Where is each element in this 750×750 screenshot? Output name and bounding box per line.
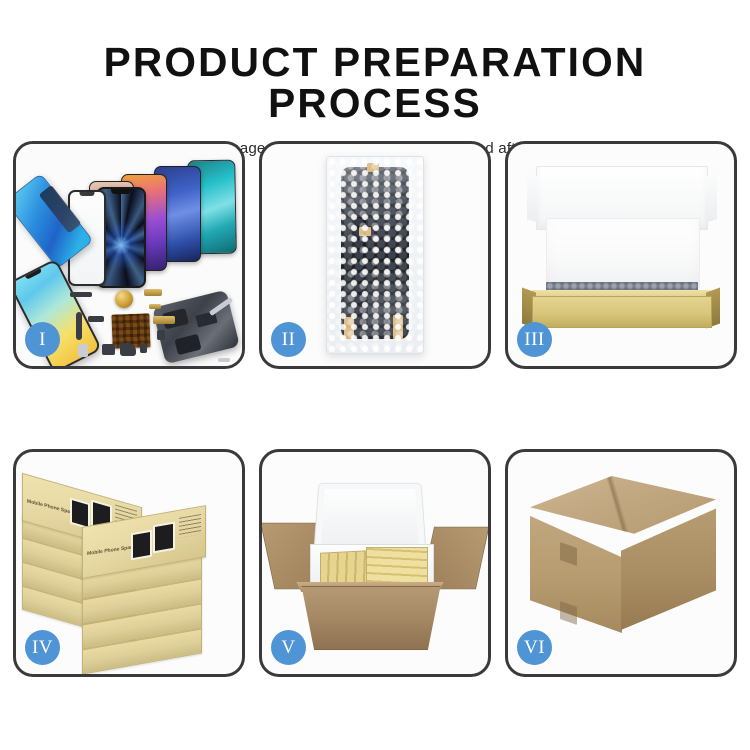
process-step-panel-4: Mobile Phone Spare Parts Mobile Phone Sp… bbox=[13, 449, 245, 677]
foam-liner-icon bbox=[546, 218, 700, 288]
process-step-grid: I II bbox=[13, 141, 737, 677]
step-badge-2: II bbox=[271, 322, 306, 357]
carton-front-panel bbox=[292, 586, 450, 650]
step-badge-4: IV bbox=[25, 630, 60, 665]
button-flex-icon bbox=[88, 316, 104, 322]
process-step-panel-3: III bbox=[505, 141, 737, 369]
sim-tray-icon bbox=[78, 344, 88, 357]
vibration-motor-icon bbox=[115, 290, 133, 308]
ear-speaker-icon bbox=[120, 343, 136, 356]
step-badge-5: V bbox=[271, 630, 306, 665]
header: PRODUCT PREPARATION PROCESS All products… bbox=[0, 0, 750, 158]
step-badge-1: I bbox=[25, 322, 60, 357]
step-badge-6: VI bbox=[517, 630, 552, 665]
kraft-box-assembly bbox=[520, 166, 722, 352]
box-window-icon bbox=[153, 522, 175, 554]
box-window-icon bbox=[131, 530, 152, 561]
process-step-panel-5: V bbox=[259, 449, 491, 677]
sealed-carton bbox=[524, 476, 720, 654]
phone-notch-icon bbox=[111, 189, 131, 194]
box-window-icon bbox=[70, 498, 90, 530]
camera-module-icon bbox=[157, 330, 165, 340]
connector-icon bbox=[140, 344, 147, 353]
box-spec-lines bbox=[179, 514, 201, 538]
gold-connector-icon bbox=[144, 289, 162, 296]
styrofoam-lid-icon bbox=[313, 483, 426, 552]
process-step-panel-2: II bbox=[259, 141, 491, 369]
bubble-texture-overlay bbox=[327, 157, 423, 353]
product-preparation-infographic: PRODUCT PREPARATION PROCESS All products… bbox=[0, 0, 750, 750]
step-badge-3: III bbox=[517, 322, 552, 357]
speaker-mesh-icon bbox=[76, 312, 82, 340]
gold-flex-strip-icon bbox=[153, 316, 175, 324]
process-step-panel-1: I bbox=[13, 141, 245, 369]
screws-icon bbox=[218, 358, 230, 362]
process-step-panel-6: VI bbox=[505, 449, 737, 677]
carton-assembly bbox=[270, 474, 480, 658]
gold-contact-icon bbox=[149, 304, 161, 309]
glass-notch-icon bbox=[80, 192, 95, 196]
page-title: PRODUCT PREPARATION PROCESS bbox=[4, 42, 747, 124]
flex-cable-icon bbox=[70, 292, 92, 297]
kraft-box-front bbox=[532, 296, 712, 328]
small-part-icon bbox=[102, 344, 115, 355]
bubble-wrap-bag bbox=[326, 156, 424, 354]
